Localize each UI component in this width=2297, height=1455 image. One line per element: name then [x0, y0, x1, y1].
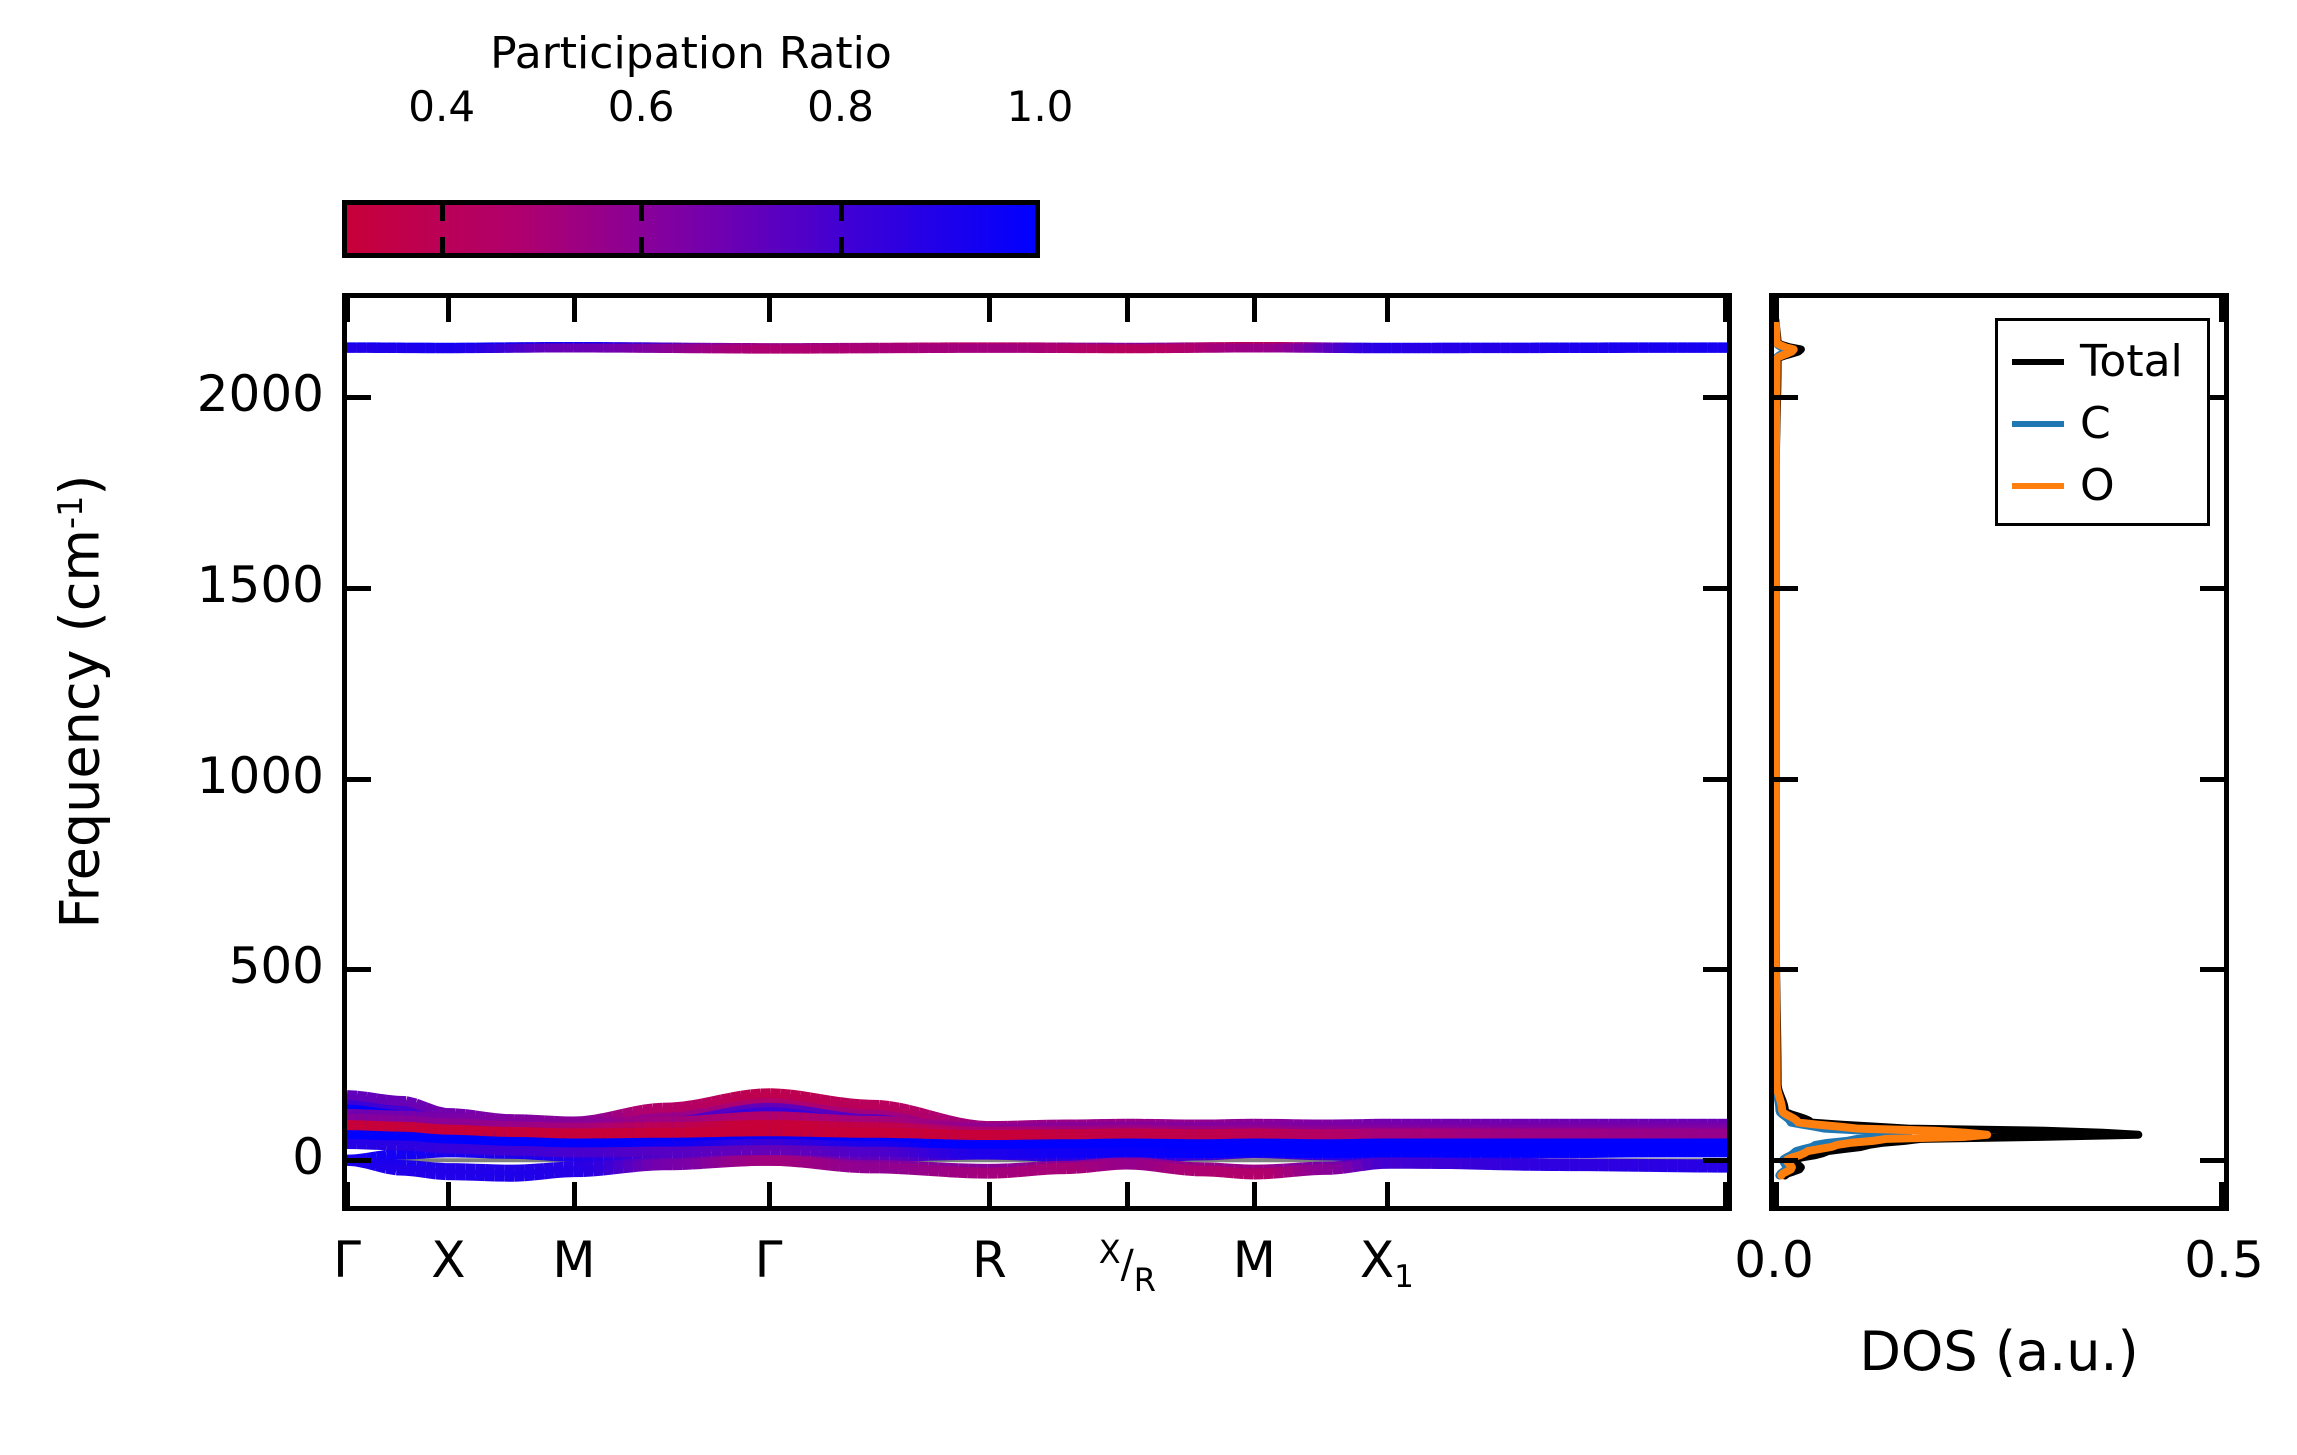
dos-ytick [1774, 395, 1798, 400]
band-xtick [987, 1182, 992, 1206]
figure-canvas: Participation Ratio 0.40.60.81.0 ΓXMΓRX/… [0, 0, 2297, 1455]
colorbar-tick [639, 237, 644, 253]
legend-label: C [2080, 402, 2111, 446]
band-xtick [1252, 1182, 1257, 1206]
dos-ytick [1774, 1158, 1798, 1163]
band-ytick-right [1703, 1158, 1727, 1163]
dos-xtick [2219, 1182, 2224, 1206]
colorbar-tick-label: 1.0 [980, 82, 1100, 131]
band-xtick [572, 1182, 577, 1206]
band-ytick [347, 777, 371, 782]
band-xtick [345, 1182, 350, 1206]
legend-line-swatch [2012, 421, 2064, 427]
legend-label: Total [2080, 340, 2183, 384]
band-ytick [347, 586, 371, 591]
band-curves-svg [347, 298, 1727, 1206]
band-ytick-right [1703, 395, 1727, 400]
colorbar-tick [440, 237, 445, 253]
y-axis-label-close: ) [49, 475, 112, 496]
dos-ytick [1774, 967, 1798, 972]
band-xtick [1723, 298, 1728, 322]
y-axis-label-exponent: -1 [51, 496, 90, 529]
band-ytick [347, 1158, 371, 1163]
band-ytick [347, 395, 371, 400]
band-xtick-top [1385, 298, 1390, 322]
dos-ytick-right [2200, 777, 2224, 782]
colorbar-tick [440, 205, 445, 221]
band-structure-axes [342, 293, 1732, 1211]
band-curve [347, 348, 1727, 349]
band-xtick [1723, 1182, 1728, 1206]
legend-entry[interactable]: O [1998, 455, 2207, 517]
colorbar-tick-label: 0.4 [382, 82, 502, 131]
colorbar-tick [839, 205, 844, 221]
band-xtick-label: M [494, 1231, 654, 1289]
legend-entry[interactable]: Total [1998, 331, 2207, 393]
band-xtick [1385, 1182, 1390, 1206]
dos-ytick-right [2200, 586, 2224, 591]
dos-ytick-right [2200, 1158, 2224, 1163]
band-xtick-top [345, 298, 350, 322]
dos-xtick-label: 0.5 [2144, 1231, 2297, 1289]
colorbar-tick [639, 205, 644, 221]
band-xtick-top [1125, 298, 1130, 322]
band-ytick-right [1703, 967, 1727, 972]
dos-legend: TotalCO [1995, 318, 2210, 526]
band-ytick-label: 2000 [74, 365, 324, 423]
dos-curve [1776, 321, 1987, 1176]
dos-ytick [1774, 586, 1798, 591]
legend-line-swatch [2012, 359, 2064, 365]
band-ytick-right [1703, 777, 1727, 782]
band-xtick-top [987, 298, 992, 322]
band-xtick-label: Γ [689, 1231, 849, 1289]
colorbar-tick-label: 0.8 [781, 82, 901, 131]
band-xtick-label: X1 [1307, 1231, 1467, 1295]
band-ytick-label: 1000 [74, 747, 324, 805]
y-axis-label-text: Frequency (cm [49, 529, 112, 929]
band-ytick [347, 967, 371, 972]
legend-label: O [2080, 464, 2115, 508]
dos-xtick [1774, 298, 1779, 322]
y-axis-label: Frequency (cm-1) [49, 322, 112, 1082]
band-ytick-label: 0 [74, 1128, 324, 1186]
colorbar-tick-label: 0.6 [581, 82, 701, 131]
dos-ytick [1774, 777, 1798, 782]
band-xtick [767, 1182, 772, 1206]
band-xtick [1125, 1182, 1130, 1206]
dos-xtick [2219, 298, 2224, 322]
band-xtick [446, 1182, 451, 1206]
band-xtick-label: R [909, 1231, 1069, 1289]
colorbar-title: Participation Ratio [342, 28, 1040, 80]
band-xtick-top [767, 298, 772, 322]
dos-curve [1775, 321, 1908, 1176]
dos-x-axis-label: DOS (a.u.) [1769, 1320, 2229, 1383]
band-ytick-label: 1500 [74, 556, 324, 614]
band-xtick-top [1252, 298, 1257, 322]
band-xtick-top [446, 298, 451, 322]
dos-xtick [1774, 1182, 1779, 1206]
legend-entry[interactable]: C [1998, 393, 2207, 455]
legend-line-swatch [2012, 483, 2064, 489]
band-ytick-label: 500 [74, 937, 324, 995]
colorbar-gradient [342, 200, 1040, 258]
colorbar-tick [839, 237, 844, 253]
band-plot-area [347, 298, 1727, 1206]
band-xtick-top [572, 298, 577, 322]
band-ytick-right [1703, 586, 1727, 591]
participation-ratio-colorbar [342, 200, 1040, 258]
dos-xtick-label: 0.0 [1694, 1231, 1854, 1289]
dos-ytick-right [2200, 967, 2224, 972]
